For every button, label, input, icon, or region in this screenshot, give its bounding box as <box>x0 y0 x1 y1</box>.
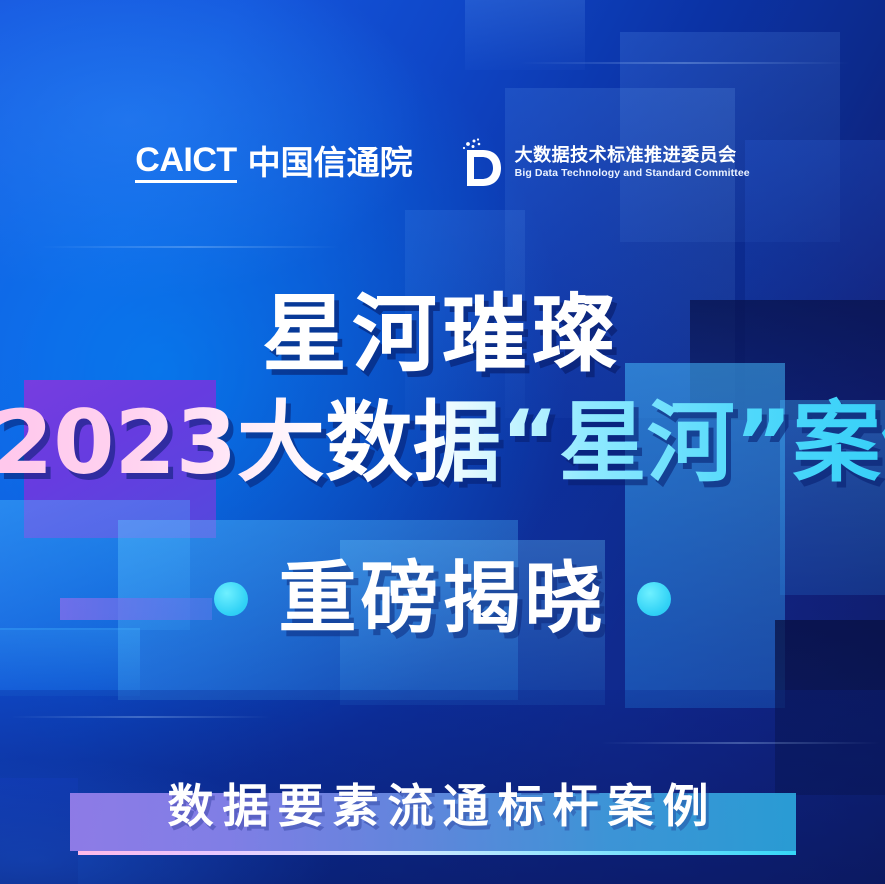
background-streak-1 <box>40 246 340 248</box>
background-streak-4 <box>600 742 880 744</box>
headline-secondary: 2023大数据“星河”案例 <box>0 396 885 489</box>
background-rect-top-small <box>465 0 585 70</box>
logo-caict: CAICT 中国信通院 <box>135 143 412 183</box>
bullet-dot-right-icon <box>637 582 671 616</box>
logo-bdtsc: 大数据技术标准推进委员会 Big Data Technology and Sta… <box>461 138 750 188</box>
background-streak-3 <box>10 716 270 718</box>
caict-chinese-name: 中国信通院 <box>248 146 413 183</box>
footer-band-underline <box>78 851 796 855</box>
headline-tertiary-row: 重磅揭晓 <box>0 560 885 638</box>
headline-tertiary: 重磅揭晓 <box>278 560 606 638</box>
bdtsc-text-block: 大数据技术标准推进委员会 Big Data Technology and Sta… <box>515 147 750 179</box>
logo-row: CAICT 中国信通院 大数据技术标准推进委员会 Big Data Techno… <box>0 132 885 194</box>
letter-d-icon <box>461 138 503 188</box>
caict-wordmark: CAICT <box>135 143 236 183</box>
poster-root: CAICT 中国信通院 大数据技术标准推进委员会 Big Data Techno… <box>0 0 885 884</box>
bdtsc-chinese-name: 大数据技术标准推进委员会 <box>515 147 750 165</box>
background-rect-cyan-left-2 <box>0 628 140 696</box>
bullet-dot-left-icon <box>214 582 248 616</box>
background-streak-2 <box>520 62 850 64</box>
bdtsc-english-name: Big Data Technology and Standard Committ… <box>515 168 750 179</box>
footer-band-text: 数据要素流通标杆案例 <box>0 783 885 829</box>
headline-primary: 星河璀璨 <box>0 292 885 376</box>
